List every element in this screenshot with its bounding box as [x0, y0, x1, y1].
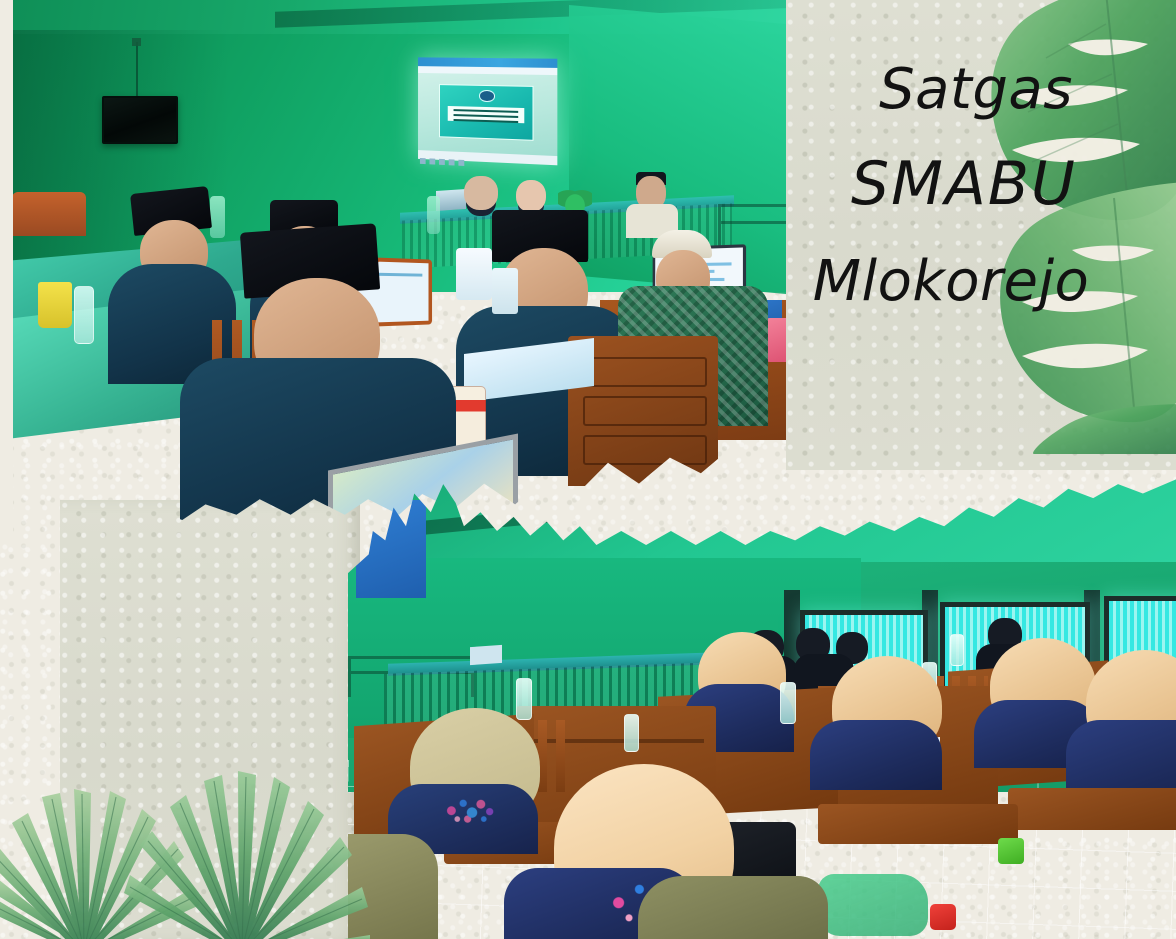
head-table-laptop: [470, 645, 502, 665]
projector-screen: [418, 57, 557, 165]
uniform-body: [810, 720, 942, 790]
title-line-satgas: Satgas: [822, 62, 1130, 118]
bottom-left-panel-background: [60, 500, 360, 939]
wooden-chair-back: [12, 192, 86, 236]
presentation-slide: [439, 84, 533, 141]
tv-cable: [136, 42, 138, 98]
red-container: [930, 904, 956, 930]
title-line-mlokorejo: Mlokorejo: [772, 254, 1130, 310]
water-bottle: [780, 682, 796, 724]
browser-toolbar: [418, 66, 557, 75]
poster-canvas: Satgas SMABU Mlokorejo: [0, 0, 1176, 939]
top-photo-scene: [12, 0, 786, 520]
attendee-woman-far-right: [1066, 650, 1176, 800]
bottom-photo-scene: [348, 470, 1176, 939]
attendee-woman-center-right: [810, 656, 960, 786]
wall-mounted-tv: [102, 96, 178, 144]
left-paper-margin: [0, 0, 13, 540]
slide-logo-icon: [480, 91, 494, 101]
poster-title: Satgas SMABU Mlokorejo: [800, 62, 1130, 310]
title-line-smabu: SMABU: [798, 154, 1130, 214]
photo-bottom-classroom: [348, 470, 1176, 939]
plastic-bag: [818, 874, 928, 936]
cabinet-drawer: [583, 396, 707, 426]
yellow-cup: [38, 282, 72, 328]
hand-sanitizer: [492, 268, 518, 314]
tissue-box: [456, 248, 492, 300]
green-cup: [998, 838, 1024, 864]
cabinet-drawer: [583, 435, 707, 465]
water-bottle: [74, 286, 94, 344]
khaki-jacket-left: [348, 834, 438, 939]
head-table-laptop: [436, 189, 466, 211]
photo-top-meeting-room: [12, 0, 786, 520]
khaki-jacket-foreground: [638, 876, 828, 939]
wooden-bench: [818, 804, 1018, 844]
water-bottle: [624, 714, 639, 752]
panelist-two: [516, 180, 546, 212]
wall-socket: [132, 38, 141, 46]
wooden-bench: [1008, 788, 1176, 830]
slide-text-block: [448, 106, 525, 124]
panelist-one: [464, 176, 498, 210]
cabinet-drawer: [583, 357, 707, 387]
